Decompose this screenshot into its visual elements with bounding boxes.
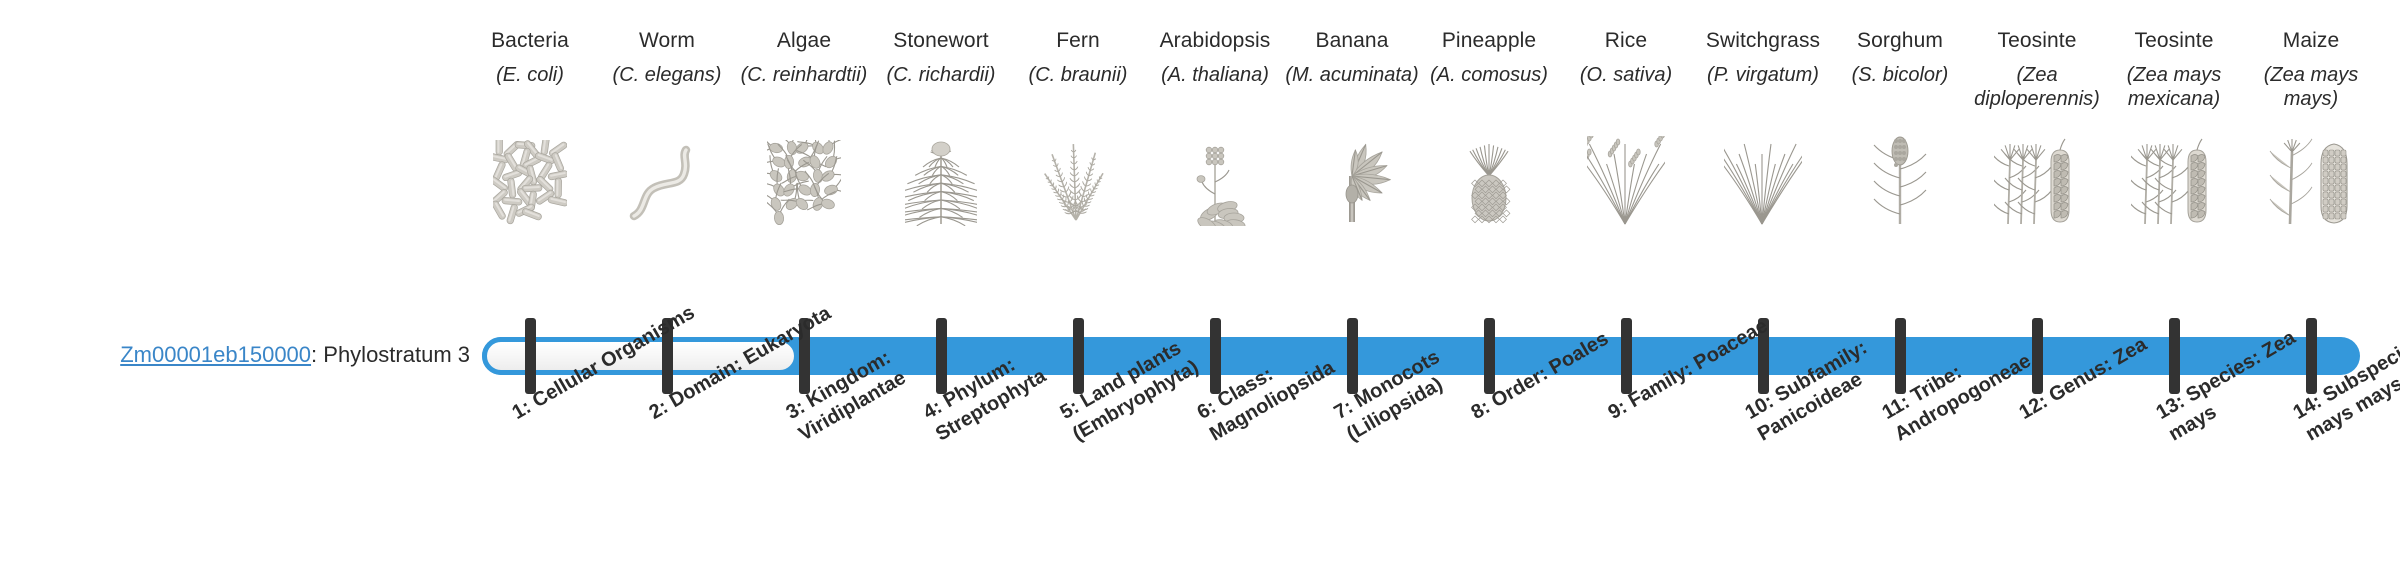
rank-number: 1: (509, 396, 535, 424)
rank-number: 2: (646, 396, 672, 424)
rank-number: 8: (1468, 396, 1494, 424)
rank-name: Kingdom: Viridiplantae (795, 347, 910, 446)
phylostratum-figure: Bacteria (E. coli) Worm (C. elegans) Alg… (0, 0, 2400, 580)
rank-name: Class: Magnoliopsida (1206, 357, 1338, 446)
taxonomic-rank-labels: 1: Cellular Organisms2: Domain: Eukaryot… (0, 0, 2400, 580)
rank-name: Subfamily: Panicoideae (1754, 337, 1871, 446)
rank-name: Phylum: Streptophyta (932, 354, 1050, 446)
rank-name: Tribe: Andropogoneae (1891, 350, 2035, 446)
rank-name: Species: Zea mays (2165, 326, 2299, 445)
rank-number: 12: (2016, 390, 2052, 424)
rank-number: 9: (1605, 396, 1631, 424)
